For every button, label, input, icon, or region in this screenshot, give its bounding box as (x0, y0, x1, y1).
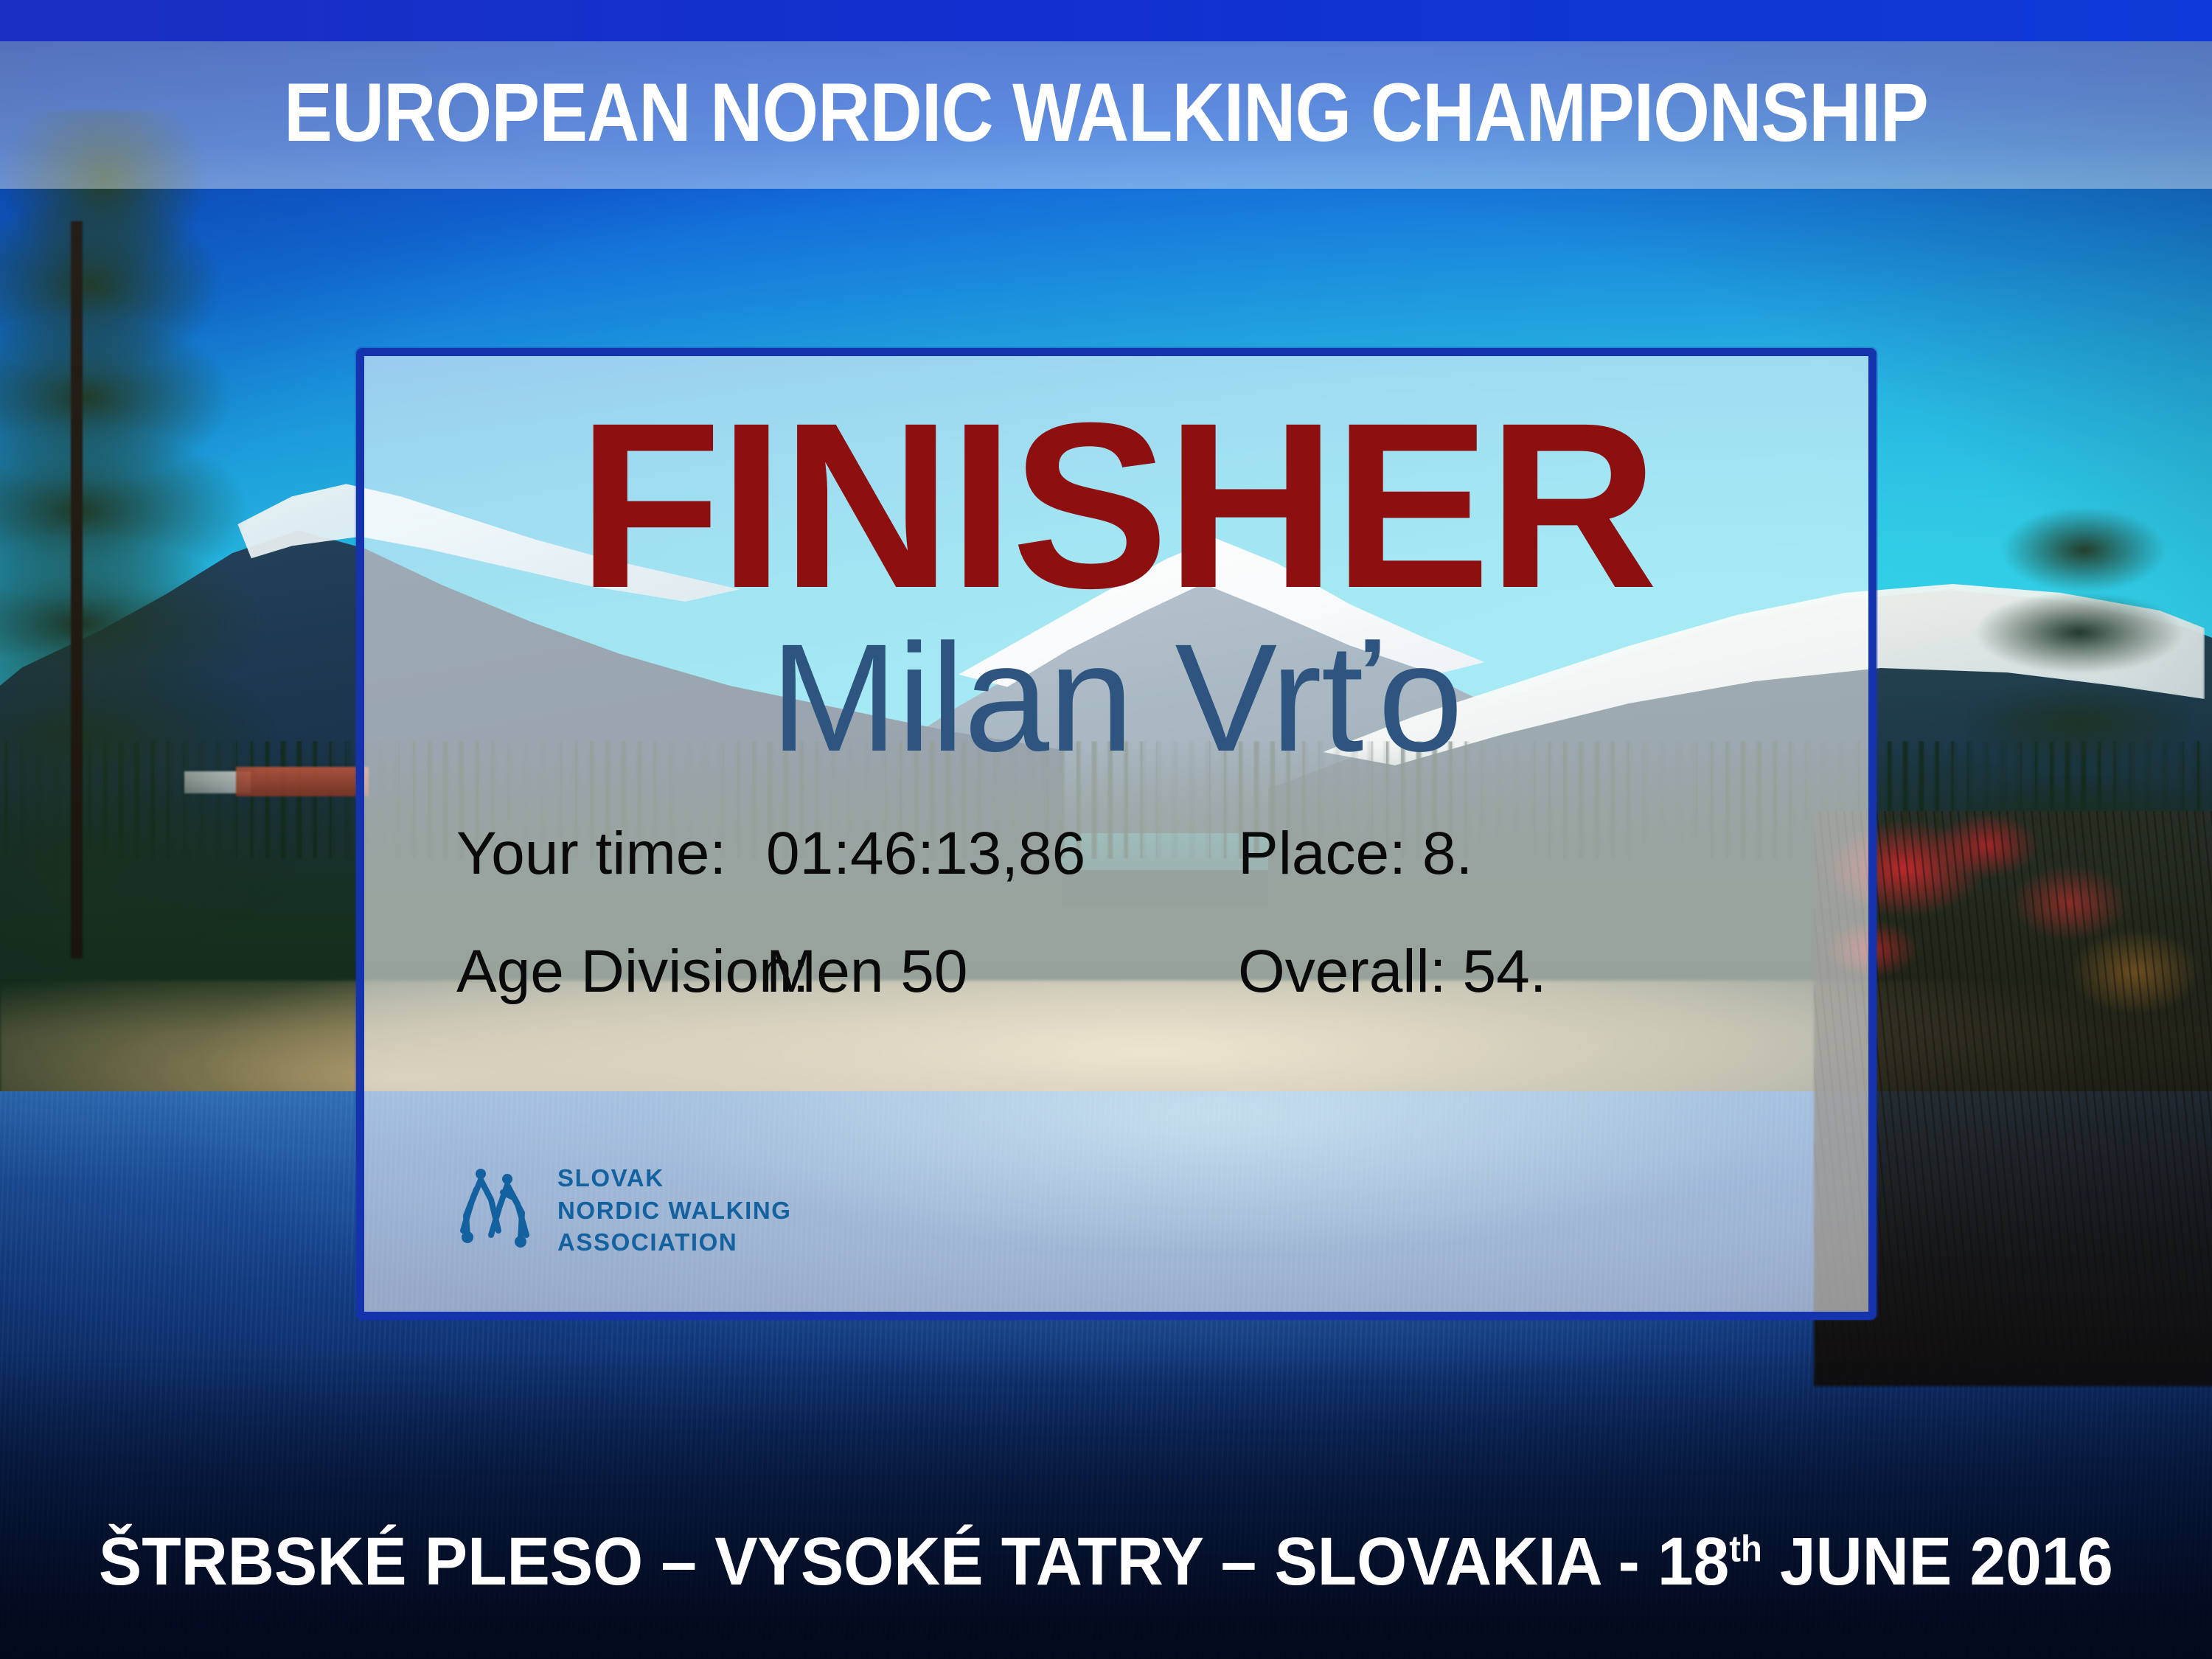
left-tree-trunk (71, 221, 83, 959)
overall-label: Overall: (1238, 942, 1463, 1002)
ordinal-suffix: th (1729, 1528, 1762, 1569)
event-location-date: ŠTRBSKÉ PLESO – VYSOKÉ TATRY – SLOVAKIA … (99, 1528, 2113, 1621)
age-division-label: Age Division: (456, 942, 766, 1002)
header-banner: EUROPEAN NORDIC WALKING CHAMPIONSHIP (0, 41, 2212, 189)
certificate-image: EUROPEAN NORDIC WALKING CHAMPIONSHIP FIN… (0, 0, 2212, 1659)
footer-banner: ŠTRBSKÉ PLESO – VYSOKÉ TATRY – SLOVAKIA … (0, 1489, 2212, 1659)
top-accent-strip (0, 0, 2212, 41)
certificate-card: FINISHER Milan Vrťo Your time: 01:46:13,… (356, 348, 1877, 1320)
age-division-value: Men 50 (766, 942, 1238, 1002)
time-value: 01:46:13,86 (766, 824, 1238, 884)
logo-line-1: SLOVAK (557, 1164, 664, 1192)
place-value: 8. (1422, 824, 1472, 884)
result-row-age-division: Age Division: Men 50 Overall: 54. (456, 942, 1780, 1002)
athlete-name: Milan Vrťo (364, 617, 1868, 775)
page-title: EUROPEAN NORDIC WALKING CHAMPIONSHIP (133, 72, 2079, 159)
logo-line-2: NORDIC WALKING (557, 1197, 792, 1224)
place-label: Place: (1238, 824, 1422, 884)
association-logo: SLOVAK NORDIC WALKING ASSOCIATION (459, 1162, 792, 1259)
finisher-heading: FINISHER (364, 356, 1868, 617)
result-details: Your time: 01:46:13,86 Place: 8. Age Div… (364, 824, 1868, 1002)
overall-value: 54. (1463, 942, 1547, 1002)
association-logo-text: SLOVAK NORDIC WALKING ASSOCIATION (557, 1162, 792, 1259)
certificate-card-body: FINISHER Milan Vrťo Your time: 01:46:13,… (364, 356, 1868, 1312)
result-row-time: Your time: 01:46:13,86 Place: 8. (456, 824, 1780, 884)
time-label: Your time: (456, 824, 766, 884)
event-location-date-prefix: ŠTRBSKÉ PLESO – VYSOKÉ TATRY – SLOVAKIA … (99, 1524, 1729, 1599)
nordic-walker-icon (459, 1167, 538, 1254)
left-conifer-tree (0, 111, 295, 981)
logo-line-3: ASSOCIATION (557, 1228, 737, 1256)
event-location-date-suffix: JUNE 2016 (1762, 1524, 2113, 1599)
